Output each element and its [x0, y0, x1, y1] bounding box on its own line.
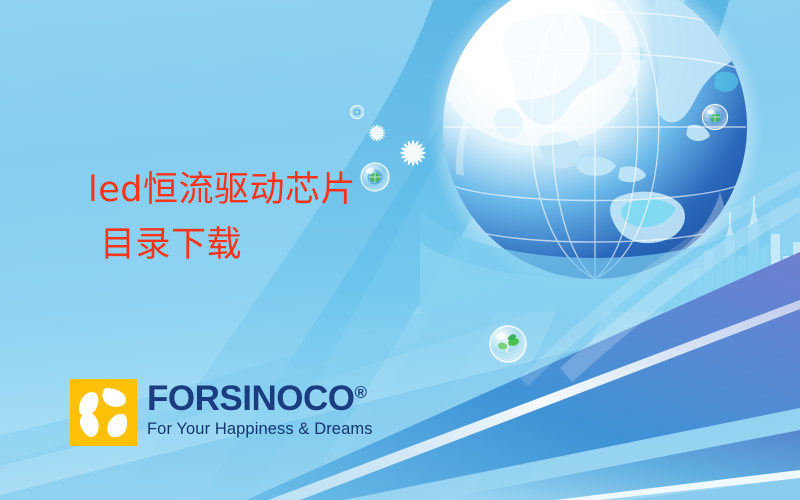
forsinoco-pinwheel-mark-icon — [70, 379, 137, 446]
banner-canvas: led恒流驱动芯片 目录下载 FORSINOCO® For Your Happi… — [0, 0, 800, 500]
bubble-globe-top-right-icon — [700, 102, 730, 132]
brand-wordmark: FORSINOCO® — [147, 381, 373, 416]
headline-line-1: led恒流驱动芯片 — [88, 170, 356, 210]
sparkle-medium-icon — [366, 122, 388, 144]
brand-wordmark-text: FORSINOCO — [147, 379, 354, 418]
brand-logo: FORSINOCO® For Your Happiness & Dreams — [70, 379, 373, 446]
registered-trademark-symbol: ® — [354, 383, 367, 402]
brand-text: FORSINOCO® For Your Happiness & Dreams — [147, 381, 373, 439]
brand-tagline: For Your Happiness & Dreams — [147, 420, 373, 439]
bubble-sprout-bottom-icon — [486, 322, 530, 366]
headline-line-2: 目录下载 — [88, 218, 508, 273]
page-title: led恒流驱动芯片 目录下载 — [88, 163, 508, 274]
bubble-globe-top-left-icon — [349, 104, 365, 120]
